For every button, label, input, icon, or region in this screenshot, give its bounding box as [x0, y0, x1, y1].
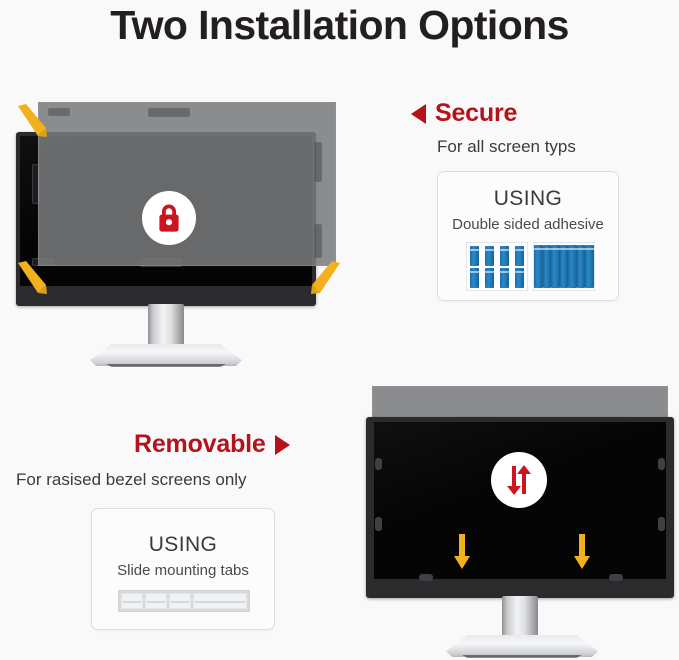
- adhesive-strip: [551, 245, 560, 288]
- bezel-nub-bottom-left: [419, 574, 433, 581]
- removable-monitor-illustration: [366, 386, 676, 660]
- bezel-nub-left-lower: [375, 517, 382, 531]
- privacy-filter-panel: [38, 102, 336, 266]
- monitor-stand-base: [90, 344, 242, 366]
- monitor-stand-base-shadow: [98, 364, 234, 367]
- removable-using-subtitle: Slide mounting tabs: [92, 562, 274, 579]
- adhesive-strip: [568, 245, 577, 288]
- adhesive-strip: [543, 245, 552, 288]
- adhesive-strip: [515, 246, 524, 266]
- tab-cell: [121, 593, 143, 609]
- triangle-left-icon: [411, 104, 426, 124]
- bezel-nub-left-upper: [375, 458, 382, 470]
- adhesive-column: [500, 246, 509, 288]
- secure-using-card: USING Double sided adhesive: [437, 171, 619, 301]
- secure-subtitle: For all screen typs: [437, 137, 576, 157]
- page-title: Two Installation Options: [0, 1, 679, 49]
- adhesive-column: [515, 246, 524, 288]
- filter-tab-top-left: [48, 108, 70, 116]
- attach-arrow-bottom-left-icon: [14, 261, 48, 295]
- adhesive-column: [470, 246, 479, 288]
- monitor-stand-base: [446, 635, 598, 657]
- adhesive-panel-tall: [533, 242, 595, 291]
- padlock-icon: [154, 202, 184, 234]
- padlock-badge: [142, 191, 196, 245]
- secure-heading: Secure: [411, 99, 517, 128]
- filter-tab-top-center: [148, 108, 190, 117]
- adhesive-strip: [500, 246, 509, 266]
- tab-cell: [145, 593, 167, 609]
- adhesive-strip: [470, 268, 479, 288]
- tab-cell: [169, 593, 191, 609]
- attach-arrow-top-left-icon: [14, 104, 48, 138]
- removable-heading-label: Removable: [134, 430, 266, 459]
- removable-using-title: USING: [92, 533, 274, 557]
- secure-heading-label: Secure: [435, 99, 517, 128]
- adhesive-strip: [534, 245, 543, 288]
- monitor-stand-base-shadow: [454, 655, 590, 658]
- removable-using-card: USING Slide mounting tabs: [91, 508, 275, 630]
- adhesive-strip: [485, 246, 494, 266]
- bezel-nub-bottom-right: [609, 574, 623, 581]
- adhesive-strip: [470, 246, 479, 266]
- slide-arrow-left-icon: [453, 534, 471, 570]
- adhesive-strip: [585, 245, 594, 288]
- slide-mounting-tabs-graphic: [118, 590, 250, 612]
- attach-arrow-bottom-right-icon: [310, 261, 344, 295]
- bezel-nub-right-lower: [658, 517, 665, 531]
- removable-heading: Removable: [134, 430, 290, 459]
- adhesive-strip: [485, 268, 494, 288]
- secure-using-subtitle: Double sided adhesive: [438, 216, 618, 233]
- adhesive-strip: [500, 268, 509, 288]
- adhesive-strip: [577, 245, 586, 288]
- bezel-nub-right-upper: [658, 458, 665, 470]
- removable-subtitle: For rasised bezel screens only: [16, 470, 247, 490]
- slide-direction-badge: [491, 452, 547, 508]
- filter-tab-right-upper: [314, 142, 322, 182]
- adhesive-column: [485, 246, 494, 288]
- secure-using-title: USING: [438, 187, 618, 211]
- adhesive-panel-short: [466, 242, 528, 291]
- slide-arrow-right-icon: [573, 534, 591, 570]
- filter-tab-right-lower: [314, 224, 322, 258]
- adhesive-strip: [515, 268, 524, 288]
- tab-cell: [193, 593, 247, 609]
- triangle-right-icon: [275, 435, 290, 455]
- up-down-arrows-icon: [502, 463, 536, 497]
- secure-monitor-illustration: [8, 86, 338, 376]
- adhesive-strip: [560, 245, 569, 288]
